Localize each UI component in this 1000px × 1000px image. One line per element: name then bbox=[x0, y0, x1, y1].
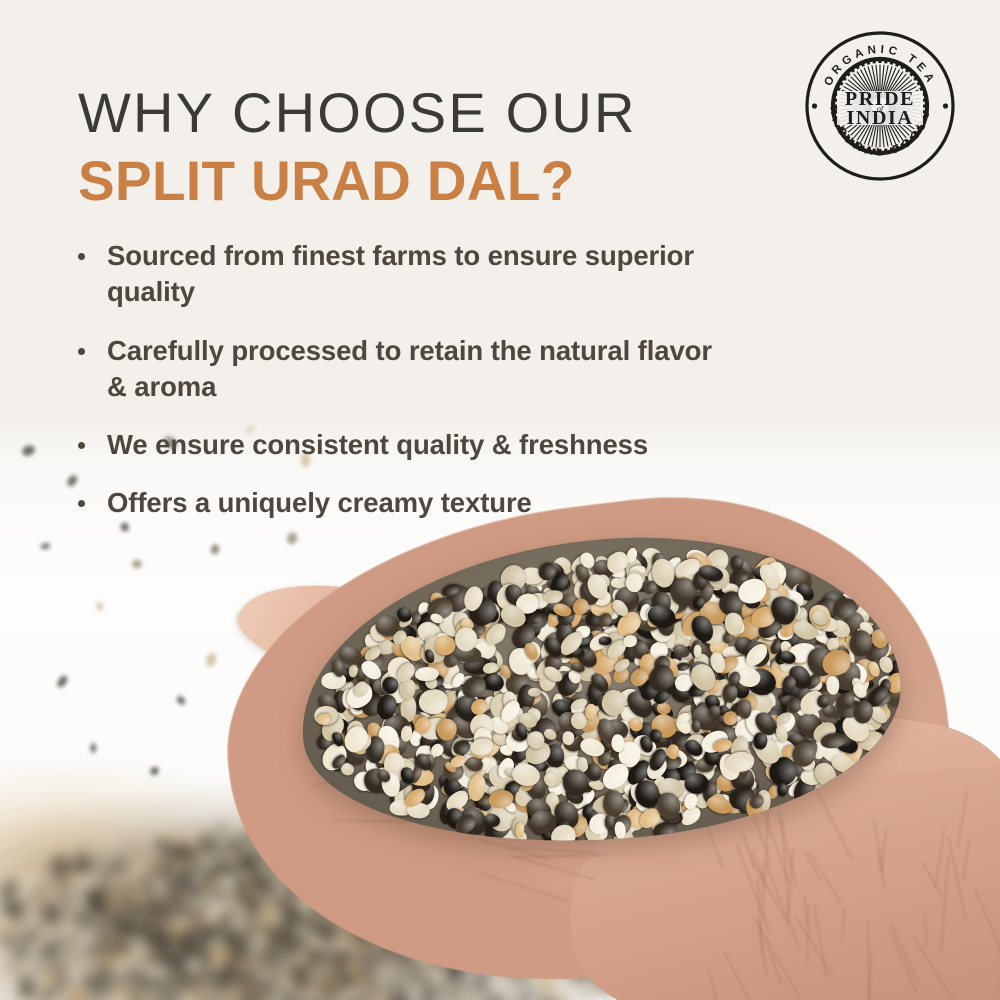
bullet-dot-icon bbox=[78, 500, 85, 507]
dal-seed bbox=[436, 718, 457, 740]
dal-seed bbox=[777, 782, 787, 796]
headline-line-1: WHY CHOOSE OUR bbox=[78, 84, 778, 141]
list-item: We ensure consistent quality & freshness bbox=[78, 427, 908, 463]
list-item: Sourced from finest farms to ensure supe… bbox=[78, 238, 908, 311]
list-item-label: Carefully processed to retain the natura… bbox=[107, 333, 727, 406]
product-feature-banner: WHY CHOOSE OUR SPLIT URAD DAL? Sourced f… bbox=[0, 0, 1000, 1000]
benefits-list: Sourced from finest farms to ensure supe… bbox=[78, 238, 908, 522]
brand-logo-seal: ORGANIC TEA NATURAL FOODS PRIDE INDIA of bbox=[805, 31, 955, 181]
page-title: WHY CHOOSE OUR SPLIT URAD DAL? bbox=[78, 84, 778, 209]
dal-seed bbox=[730, 555, 744, 570]
headline-line-2: SPLIT URAD DAL? bbox=[78, 153, 764, 209]
bullet-dot-icon bbox=[78, 442, 85, 449]
dal-seed bbox=[693, 645, 701, 658]
bullet-dot-icon bbox=[78, 253, 85, 260]
dal-seed bbox=[610, 578, 624, 589]
seal-dot-left bbox=[812, 103, 817, 108]
bullet-dot-icon bbox=[78, 348, 85, 355]
dal-seed bbox=[599, 636, 612, 645]
seal-dot-right bbox=[943, 103, 948, 108]
seal-icon: ORGANIC TEA NATURAL FOODS PRIDE INDIA of bbox=[805, 31, 955, 181]
list-item-label: We ensure consistent quality & freshness bbox=[107, 427, 648, 463]
list-item-label: Sourced from finest farms to ensure supe… bbox=[107, 238, 727, 311]
list-item-label: Offers a uniquely creamy texture bbox=[107, 485, 532, 521]
list-item: Carefully processed to retain the natura… bbox=[78, 333, 908, 406]
list-item: Offers a uniquely creamy texture bbox=[78, 485, 908, 521]
